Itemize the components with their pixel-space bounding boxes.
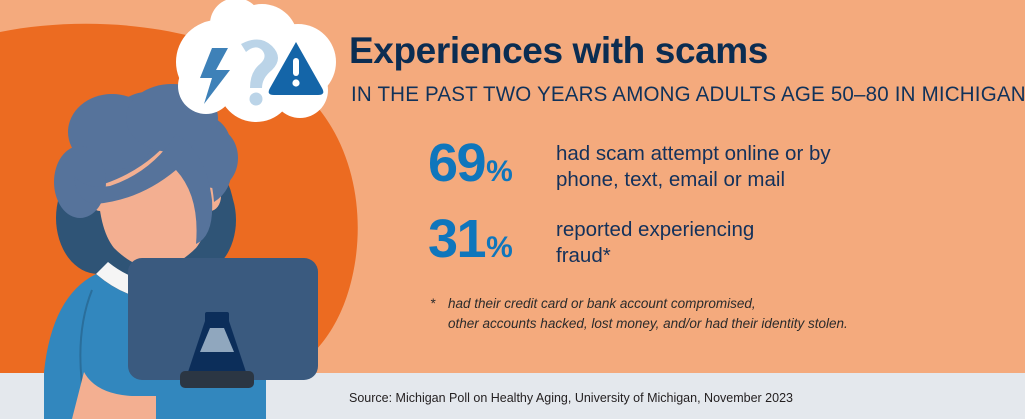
- percent-symbol: %: [486, 157, 512, 187]
- stat-label-line: phone, text, email or mail: [556, 167, 831, 193]
- stat-label-line: fraud*: [556, 243, 754, 269]
- infographic-root: Experiences with scams IN THE PAST TWO Y…: [0, 0, 1025, 419]
- stat-number: 69: [428, 136, 485, 190]
- stat-label-line: had scam attempt online or by: [556, 141, 831, 167]
- stat-label: had scam attempt online or by phone, tex…: [556, 136, 831, 192]
- stat-label-line: reported experiencing: [556, 217, 754, 243]
- footnote: * had their credit card or bank account …: [430, 294, 848, 333]
- footnote-line: other accounts hacked, lost money, and/o…: [448, 314, 848, 334]
- stat-item: 69 % had scam attempt online or by phone…: [428, 136, 831, 192]
- percent-symbol: %: [486, 233, 512, 263]
- page-subtitle: IN THE PAST TWO YEARS AMONG ADULTS AGE 5…: [351, 82, 1025, 107]
- stat-figure: 31 %: [428, 212, 556, 266]
- source-note: Source: Michigan Poll on Healthy Aging, …: [349, 391, 793, 405]
- stat-figure: 69 %: [428, 136, 556, 190]
- stat-label: reported experiencing fraud*: [556, 212, 754, 268]
- content-column: Experiences with scams IN THE PAST TWO Y…: [0, 0, 1025, 419]
- footnote-line: had their credit card or bank account co…: [448, 294, 848, 314]
- stat-number: 31: [428, 212, 485, 266]
- footnote-marker: *: [430, 294, 448, 333]
- page-title: Experiences with scams: [349, 32, 768, 71]
- stat-item: 31 % reported experiencing fraud*: [428, 212, 754, 268]
- footnote-text: had their credit card or bank account co…: [448, 294, 848, 333]
